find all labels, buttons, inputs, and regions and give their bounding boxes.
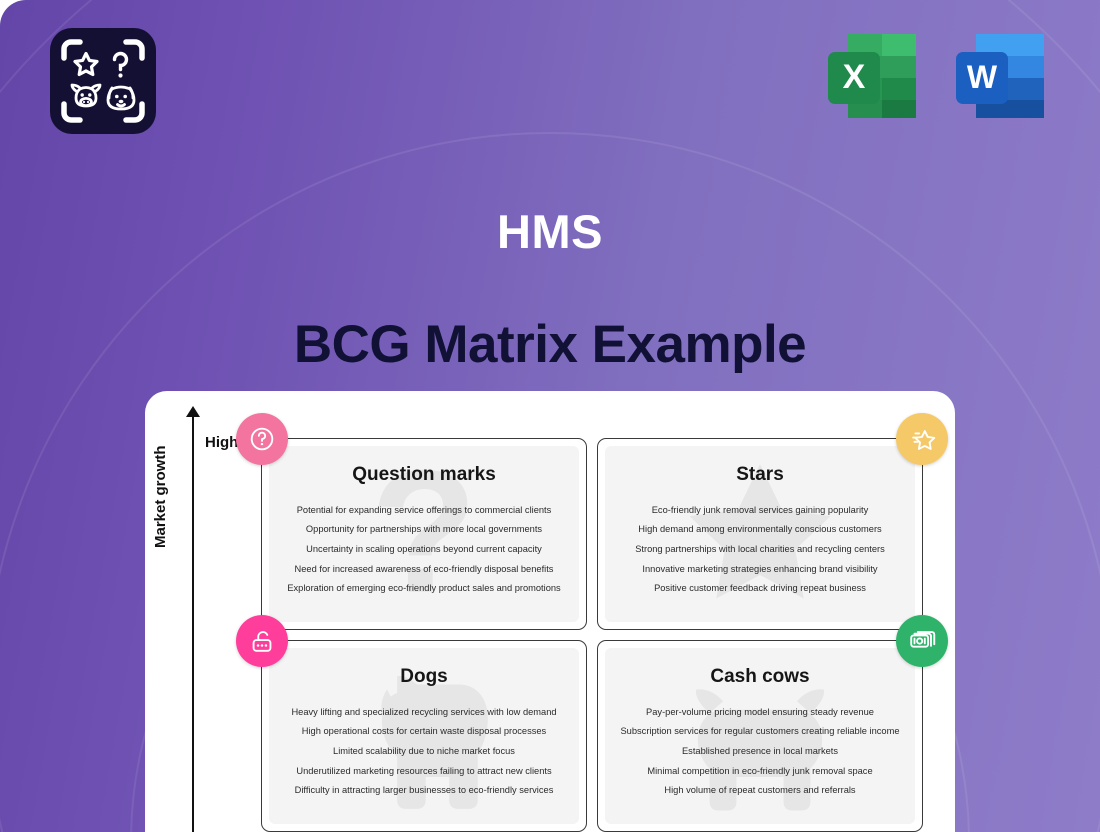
office-app-icons: X W [820, 26, 1052, 126]
axis-vertical-title: Market growth [152, 398, 169, 548]
quadrant-body: Cash cowsPay-per-volume pricing model en… [605, 648, 915, 824]
list-item: Underutilized marketing resources failin… [269, 761, 579, 781]
list-item: Innovative marketing strategies enhancin… [605, 559, 915, 579]
list-item: Exploration of emerging eco-friendly pro… [269, 579, 579, 599]
list-item: Potential for expanding service offering… [269, 500, 579, 520]
quadrant-item-list: Pay-per-volume pricing model ensuring st… [605, 702, 915, 800]
question-circle-icon [236, 413, 288, 465]
quadrant-body: DogsHeavy lifting and specialized recycl… [269, 648, 579, 824]
brand-title: HMS [0, 208, 1100, 255]
bcg-matrix-grid: ?Question marksPotential for expanding s… [261, 438, 923, 832]
quadrant-body: ?Question marksPotential for expanding s… [269, 446, 579, 622]
quadrant-dogs: DogsHeavy lifting and specialized recycl… [261, 640, 587, 832]
axis-high-label: High [205, 434, 238, 451]
list-item: Strong partnerships with local charities… [605, 539, 915, 559]
unlock-padlock-icon [236, 615, 288, 667]
quadrant-title: Cash cows [710, 666, 809, 688]
list-item: Positive customer feedback driving repea… [605, 579, 915, 599]
word-icon[interactable]: W [948, 26, 1052, 126]
quadrant-title: Question marks [352, 464, 496, 486]
list-item: High volume of repeat customers and refe… [605, 781, 915, 801]
list-item: Need for increased awareness of eco-frie… [269, 559, 579, 579]
list-item: Minimal competition in eco-friendly junk… [605, 761, 915, 781]
quadrant-body: StarsEco-friendly junk removal services … [605, 446, 915, 622]
axis-arrow-icon [186, 406, 200, 417]
excel-icon[interactable]: X [820, 26, 924, 126]
list-item: High demand among environmentally consci… [605, 520, 915, 540]
list-item: Eco-friendly junk removal services gaini… [605, 500, 915, 520]
list-item: High operational costs for certain waste… [269, 722, 579, 742]
slide-canvas: X W HMS BCG Matrix Example High Market g… [0, 0, 1100, 832]
quadrant-title: Dogs [400, 666, 448, 688]
star-icon [896, 413, 948, 465]
quadrant-stars: StarsEco-friendly junk removal services … [597, 438, 923, 630]
list-item: Heavy lifting and specialized recycling … [269, 702, 579, 722]
svg-text:X: X [843, 58, 866, 96]
quadrant-item-list: Heavy lifting and specialized recycling … [269, 702, 579, 800]
hms-bracket-logo-icon [50, 28, 156, 134]
quadrant-cash-cows: Cash cowsPay-per-volume pricing model en… [597, 640, 923, 832]
list-item: Opportunity for partnerships with more l… [269, 520, 579, 540]
quadrant-title: Stars [736, 464, 784, 486]
list-item: Difficulty in attracting larger business… [269, 781, 579, 801]
quadrant-item-list: Eco-friendly junk removal services gaini… [605, 500, 915, 598]
banknotes-icon [896, 615, 948, 667]
svg-text:W: W [967, 59, 998, 95]
list-item: Subscription services for regular custom… [605, 722, 915, 742]
quadrant-item-list: Potential for expanding service offering… [269, 500, 579, 598]
market-growth-axis-line [192, 414, 194, 832]
list-item: Uncertainty in scaling operations beyond… [269, 539, 579, 559]
list-item: Limited scalability due to niche market … [269, 741, 579, 761]
list-item: Established presence in local markets [605, 741, 915, 761]
quadrant-question-marks: ?Question marksPotential for expanding s… [261, 438, 587, 630]
page-title: BCG Matrix Example [0, 316, 1100, 374]
list-item: Pay-per-volume pricing model ensuring st… [605, 702, 915, 722]
